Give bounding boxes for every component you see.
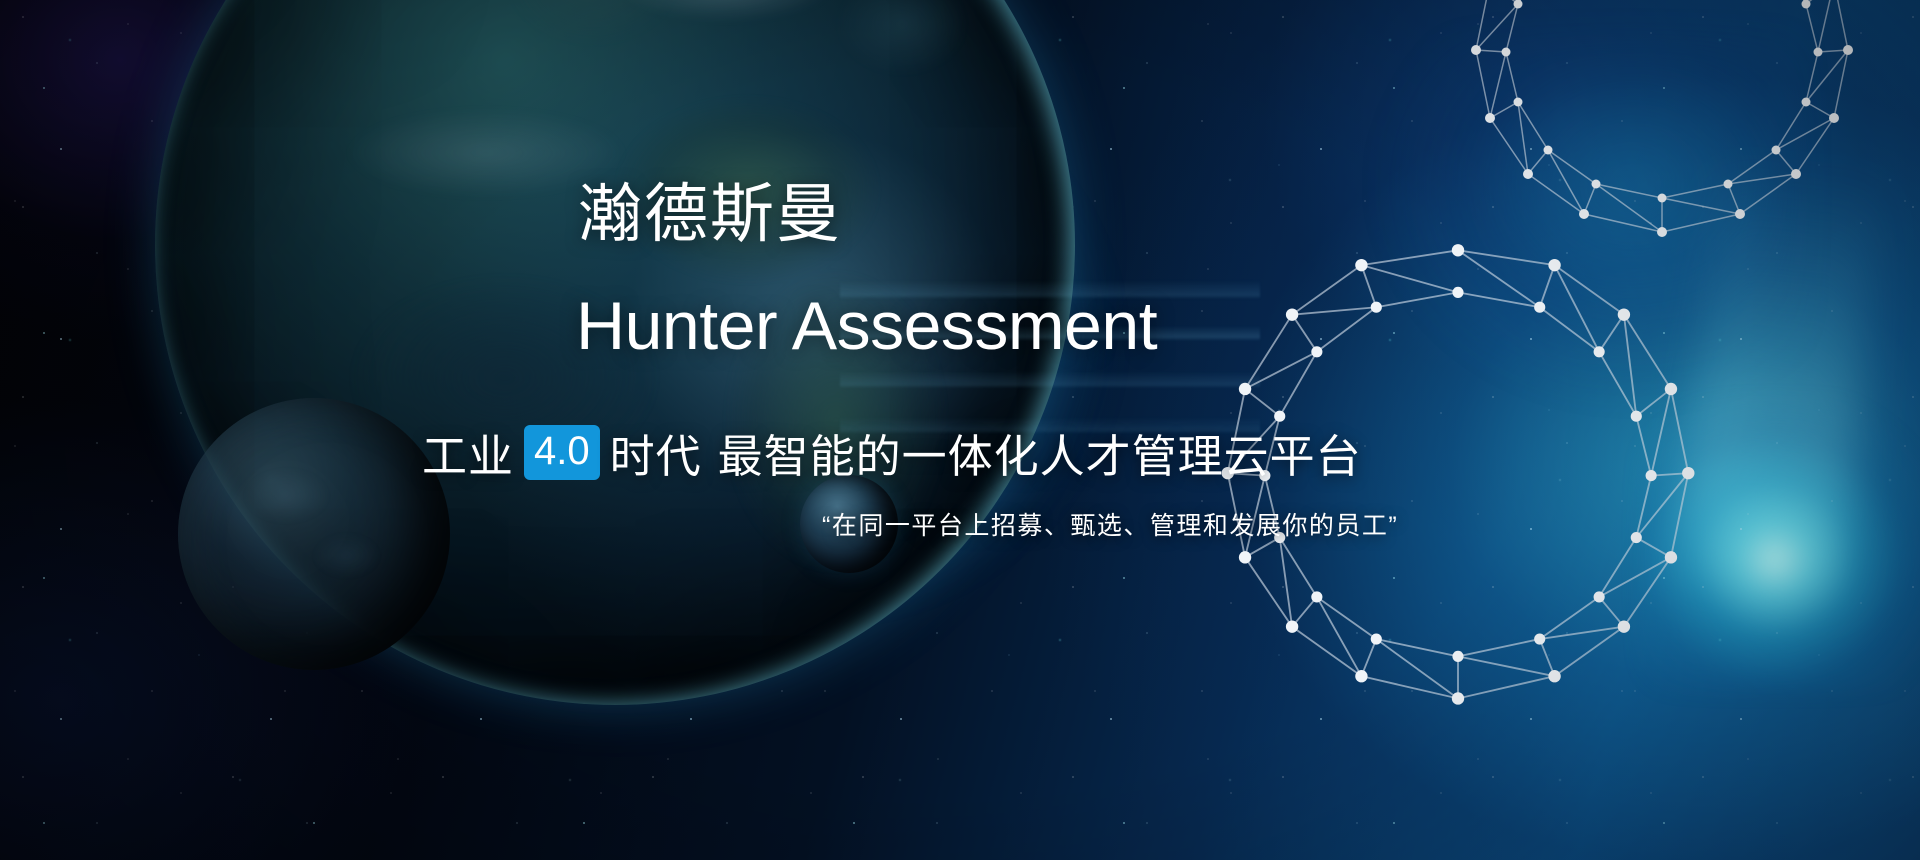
tagline-suffix: 最智能的一体化人才管理云平台 [718,420,1362,485]
hero-banner: 瀚德斯曼 Hunter Assessment 工业 4.0 时代 最智能的一体化… [0,0,1920,860]
tagline-era: 时代 [610,420,702,485]
hero-quote: “在同一平台上招募、甄选、管理和发展你的员工” [822,506,1398,542]
brand-title-chinese: 瀚德斯曼 [578,182,842,246]
brand-title-english: Hunter Assessment [576,292,1157,360]
tagline: 工业 4.0 时代 最智能的一体化人才管理云平台 [422,420,1362,485]
industry-version-badge: 4.0 [524,425,600,480]
tagline-prefix: 工业 [422,420,514,485]
hero-content: 瀚德斯曼 Hunter Assessment 工业 4.0 时代 最智能的一体化… [0,0,1920,860]
